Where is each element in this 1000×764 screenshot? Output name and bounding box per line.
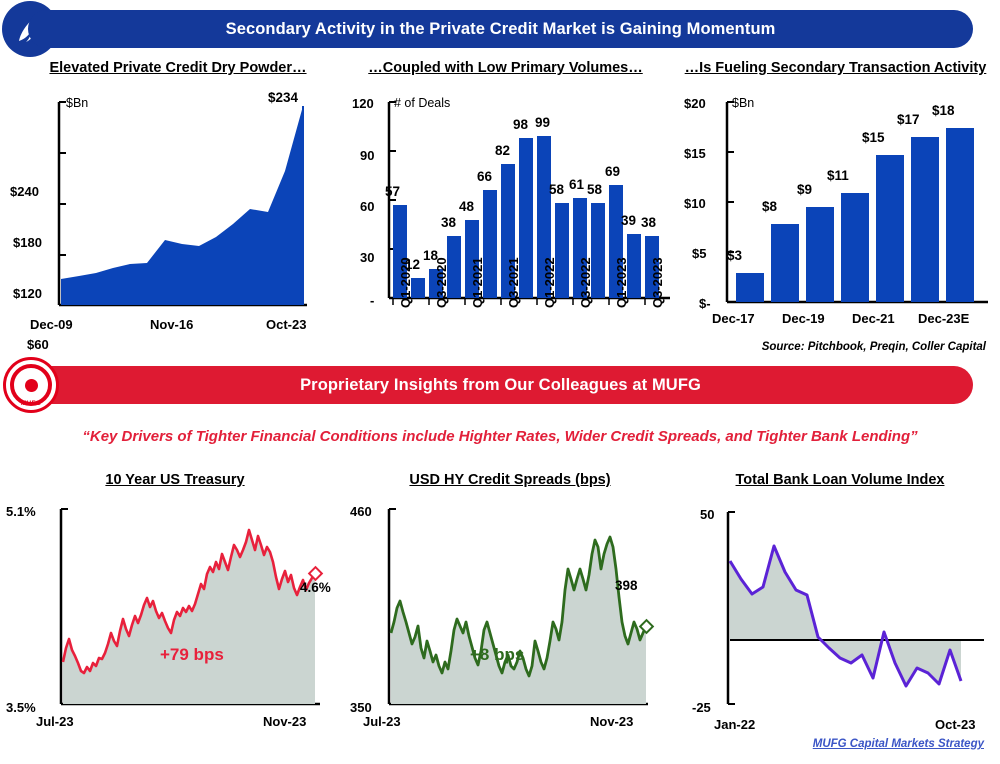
chart-title-bank-loan: Total Bank Loan Volume Index xyxy=(690,472,990,488)
xtick-vol-4: Q1-2022 xyxy=(542,257,557,308)
xtick-sec-3: Dec-23E xyxy=(918,311,969,326)
ytick-sec-2: $10 xyxy=(684,196,706,211)
primary-volumes-plot xyxy=(384,100,674,305)
ytick-tsy-bottom: 3.5% xyxy=(6,700,36,715)
data-label-hy-end: 398 xyxy=(615,578,638,593)
chart-title-dry-powder: Elevated Private Credit Dry Powder… xyxy=(18,60,338,76)
ytick-loan-top: 50 xyxy=(700,507,714,522)
dashboard-page: Secondary Activity in the Private Credit… xyxy=(0,0,1000,764)
ytick-dry-3: $60 xyxy=(27,337,49,352)
xtick-tsy-1: Nov-23 xyxy=(263,714,306,729)
mufg-wordmark: MUFG xyxy=(6,400,56,407)
data-label-vol-13: 39 xyxy=(621,213,636,228)
ytick-loan-bottom: -25 xyxy=(692,700,711,715)
annotation-hy: +8 bps xyxy=(470,645,524,665)
source-note: Source: Pitchbook, Preqin, Coller Capita… xyxy=(762,341,986,353)
data-label-sec-6: $18 xyxy=(932,103,955,118)
xtick-loan-0: Jan-22 xyxy=(714,717,755,732)
ytick-dry-0: $240 xyxy=(10,184,39,199)
xtick-hy-0: Jul-23 xyxy=(363,714,401,729)
data-label-vol-10: 61 xyxy=(569,177,584,192)
data-label-vol-12: 69 xyxy=(605,164,620,179)
xtick-vol-5: Q3-2022 xyxy=(578,257,593,308)
mid-banner: Proprietary Insights from Our Colleagues… xyxy=(28,366,973,404)
ytick-vol-2: 60 xyxy=(360,199,374,214)
ytick-vol-4: - xyxy=(370,293,374,308)
data-label-vol-11: 58 xyxy=(587,182,602,197)
data-label-sec-5: $17 xyxy=(897,112,920,127)
ytick-hy-bottom: 350 xyxy=(350,700,372,715)
data-label-vol-5: 66 xyxy=(477,169,492,184)
ytick-sec-3: $5 xyxy=(692,246,706,261)
bank-loan-plot xyxy=(722,508,1000,713)
mufg-dot xyxy=(25,379,38,392)
data-label-vol-8: 99 xyxy=(535,115,550,130)
data-label-sec-4: $15 xyxy=(862,130,885,145)
xtick-sec-0: Dec-17 xyxy=(712,311,755,326)
ytick-dry-1: $180 xyxy=(13,235,42,250)
hy-spreads-plot xyxy=(383,505,673,710)
data-label-vol-6: 82 xyxy=(495,143,510,158)
data-label-sec-1: $8 xyxy=(762,199,777,214)
data-label-sec-0: $3 xyxy=(727,248,742,263)
footer-link[interactable]: MUFG Capital Markets Strategy xyxy=(813,738,984,750)
ytick-sec-1: $15 xyxy=(684,146,706,161)
ytick-hy-top: 460 xyxy=(350,504,372,519)
data-label-vol-4: 48 xyxy=(459,199,474,214)
data-label-sec-3: $11 xyxy=(827,168,849,183)
data-label-vol-0: 57 xyxy=(385,184,400,199)
xtick-dry-2: Oct-23 xyxy=(266,317,306,332)
insight-quote: “Key Drivers of Tighter Financial Condit… xyxy=(0,428,1000,445)
xtick-sec-1: Dec-19 xyxy=(782,311,825,326)
xtick-dry-0: Dec-09 xyxy=(30,317,73,332)
ytick-vol-3: 30 xyxy=(360,250,374,265)
xtick-vol-3: Q3-2021 xyxy=(506,257,521,308)
xtick-vol-1: Q3-2020 xyxy=(434,257,449,308)
ytick-vol-1: 90 xyxy=(360,148,374,163)
data-label-sec-2: $9 xyxy=(797,182,812,197)
data-label-vol-7: 98 xyxy=(513,117,528,132)
ytick-sec-0: $20 xyxy=(684,96,706,111)
ytick-tsy-top: 5.1% xyxy=(6,504,36,519)
xtick-hy-1: Nov-23 xyxy=(590,714,633,729)
xtick-vol-7: Q3-2023 xyxy=(650,257,665,308)
treasury-plot xyxy=(55,505,345,710)
chart-title-hy-spreads: USD HY Credit Spreads (bps) xyxy=(355,472,665,488)
annotation-treasury: +79 bps xyxy=(160,645,224,665)
xtick-dry-1: Nov-16 xyxy=(150,317,193,332)
page-title: Secondary Activity in the Private Credit… xyxy=(226,20,776,39)
ytick-vol-0: 120 xyxy=(352,96,374,111)
xtick-vol-6: Q1-2023 xyxy=(614,257,629,308)
chart-title-primary-volumes: …Coupled with Low Primary Volumes… xyxy=(348,60,663,76)
xtick-vol-0: Q1-2020 xyxy=(398,257,413,308)
data-label-vol-14: 38 xyxy=(641,215,656,230)
chart-title-secondary-activity: …Is Fueling Secondary Transaction Activi… xyxy=(678,60,993,76)
mid-banner-title: Proprietary Insights from Our Colleagues… xyxy=(300,376,701,395)
mufg-target-logo-icon: MUFG xyxy=(3,357,59,413)
dry-powder-plot xyxy=(55,100,315,312)
header-banner: Secondary Activity in the Private Credit… xyxy=(28,10,973,48)
data-label-vol-9: 58 xyxy=(549,182,564,197)
chart-title-treasury: 10 Year US Treasury xyxy=(20,472,330,488)
xtick-tsy-0: Jul-23 xyxy=(36,714,74,729)
xtick-loan-1: Oct-23 xyxy=(935,717,975,732)
xtick-sec-2: Dec-21 xyxy=(852,311,895,326)
ytick-dry-2: $120 xyxy=(13,286,42,301)
data-label-treasury-end: 4.6% xyxy=(300,580,331,595)
xtick-vol-2: Q1-2021 xyxy=(470,257,485,308)
data-label-vol-3: 38 xyxy=(441,215,456,230)
ytick-sec-4: $- xyxy=(699,296,711,311)
